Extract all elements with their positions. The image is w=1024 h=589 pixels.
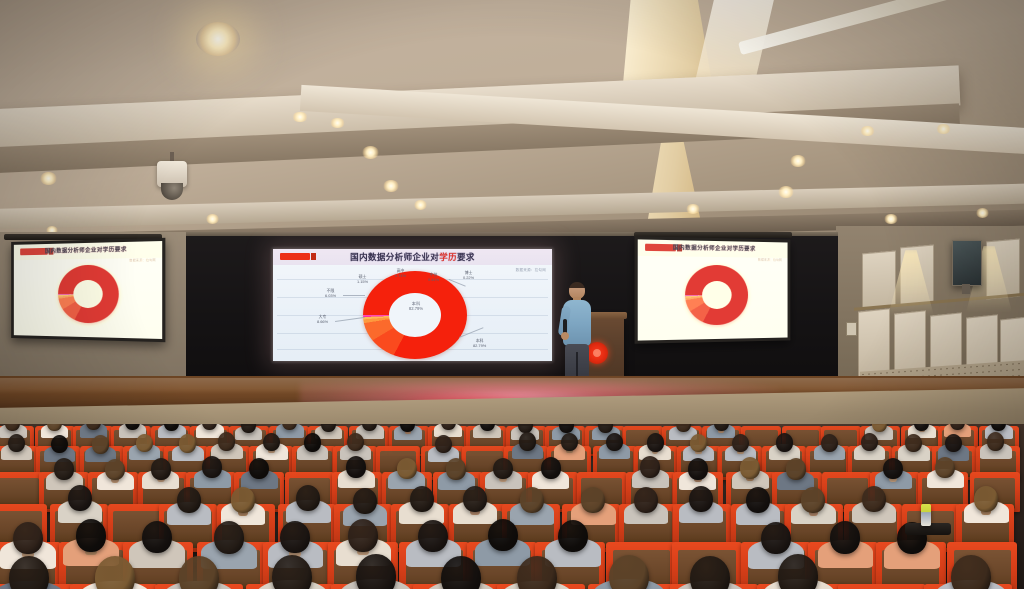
donut-label-value: 6.03% [325,294,336,299]
slide-source-left: 数据来源：拉勾网 [129,258,156,263]
audience-member-head [519,432,536,450]
audience-member-head [689,486,713,512]
audience-member-head [346,456,366,478]
ceiling-downlight [40,172,57,185]
audience-member-head [353,488,377,514]
audience-member-head [688,458,708,480]
slide-title-suffix: 要求 [457,252,475,262]
donut-leader-line [343,295,365,296]
wall-speaker-icon [952,240,982,286]
audience-member-head [92,435,109,453]
audience-member-head [761,522,791,554]
audience-member-head [136,434,153,452]
ceiling-downlight [414,200,427,210]
audience-member-head [397,458,417,480]
audience-member-head [296,485,320,511]
audience-seat [838,584,926,589]
donut-label-shuoshi: 硕士 1.15% [357,275,368,285]
audience-member-head [105,459,125,481]
audience-member-head [520,487,544,513]
audience-member-head [249,458,269,480]
audience-member-head [347,433,364,451]
audience-member-head [732,434,749,452]
audience-member-head [8,434,25,452]
donut-center-name: 本科 [412,301,420,306]
audience-member-head [493,458,513,480]
audience-seating [0,424,1024,589]
audience-member-head [9,556,49,589]
slide-title-highlight: 学历 [439,252,457,262]
right-screen-slide: 国内数据分析师企业对学历要求 数据来源：拉勾网 [638,239,788,340]
donut-label-value: 1.15% [357,280,368,285]
audience-member-head [987,432,1004,450]
audience-member-head [935,457,955,479]
audience-member-head [776,433,793,451]
ceiling-downlight [196,22,240,56]
audience-member-head [945,434,962,452]
audience-member-head [488,519,518,551]
audience-member-head [179,434,196,452]
acoustic-panel [858,308,890,377]
donut-label-benke: 本科 82.79% [473,339,486,349]
audience-member-head [559,424,574,433]
donut-label-value: 0.41% [428,278,439,283]
audience-member-head [280,521,310,553]
wall-switch-plate [846,322,857,336]
audience-member-head [348,519,378,551]
audience-member-head [13,522,43,554]
left-screen-slide: 国内数据分析师企业对学历要求 数据来源：拉勾网 [14,241,162,339]
presenter-hand [561,332,569,340]
right-screen-donut [685,265,748,326]
donut-label-boshi: 博士 0.22% [463,271,474,281]
audience-member-head [634,487,658,513]
audience-member-head [304,433,321,451]
audience-member-head [640,456,660,478]
audience-member-head [786,458,806,480]
donut-label-gaozhong: 高中 0.74% [395,269,406,279]
audience-member-head [561,433,578,451]
drink-bottle [921,504,931,526]
audience-member-head [974,486,998,512]
donut-chart [363,271,467,359]
audience-member-head [463,486,487,512]
speaker-mount [962,284,970,294]
center-screen-slide: 国内数据分析师企业对学历要求 数据来源：拉勾网 本科 82.79% 高中 0.7… [273,249,552,361]
audience-member-head [862,486,886,512]
audience-member-head [76,519,106,551]
audience-member-head [883,458,903,480]
left-projection-screen: 国内数据分析师企业对学历要求 数据来源：拉勾网 [11,238,165,342]
ceiling-downlight [206,214,219,224]
slide-title-prefix: 国内数据分析师企业对 [350,252,439,262]
audience-member-head [410,486,434,512]
audience-member-head [231,487,255,513]
ceiling-downlight [976,208,989,218]
donut-center-value: 82.79% [409,306,423,311]
ceiling-downlight [362,146,379,159]
audience-member-head [647,433,664,451]
ceiling-downlight [860,126,875,136]
ceiling-downlight [686,204,700,214]
audience-member-head [356,554,396,589]
dome-camera-icon [156,152,188,202]
slide-source-right: 数据来源：拉勾网 [758,258,782,262]
auditorium-photo: 工学院 国内数据分析师企业对学历要求 数据来源：拉勾网 国内数据分析师企业对学历… [0,0,1024,589]
audience-member-head [746,487,770,513]
audience-member-head [51,435,68,453]
ceiling-downlight [936,124,951,134]
center-led-screen: 国内数据分析师企业对学历要求 数据来源：拉勾网 本科 82.79% 高中 0.7… [273,249,552,361]
acoustic-panel [862,251,896,310]
ceiling [0,0,1024,248]
ceiling-downlight [330,118,345,128]
stage-plant [16,378,46,398]
ceiling-light-strip [738,0,1012,55]
audience-member-head [218,432,235,450]
audience-member-head [435,435,452,453]
audience-member-head [740,457,760,479]
audience-member-head [202,456,222,478]
ceiling-downlight [383,180,399,192]
audience-member-head [541,457,561,479]
ceiling-downlight [778,186,794,198]
ceiling-downlight [292,112,308,122]
ceiling-downlight [790,155,806,167]
slide-title: 国内数据分析师企业对学历要求 [273,251,552,263]
audience-member-head [272,555,312,589]
audience-member-head [606,433,623,451]
audience-member-head [690,434,707,452]
donut-label-value: 0.22% [463,276,474,281]
donut-label-value: 0.74% [395,274,406,279]
donut-center-label: 本科 82.79% [381,301,451,312]
audience-member-head [142,521,172,553]
donut-hole [389,293,441,337]
donut-hole-left [73,280,102,308]
audience-member-head [68,485,92,511]
donut-hole-right [702,281,731,309]
donut-label-zhongji: 中技 0.41% [428,273,439,283]
audience-member-head [861,433,878,451]
slide-source-note: 数据来源：拉勾网 [516,268,546,273]
audience-member-head [214,521,244,553]
audience-member-head [54,458,74,480]
stage-plant [72,382,102,402]
right-projection-screen: 国内数据分析师企业对学历要求 数据来源：拉勾网 [635,236,791,344]
audience-member-head [446,458,466,480]
audience-member-head [151,458,171,480]
audience-member-head [517,556,557,589]
audience-member-head [558,520,588,552]
left-screen-donut [58,265,119,324]
donut-leader-line [335,317,365,322]
audience-member-head [177,487,201,513]
audience-member-head [830,521,860,553]
audience-member-head [821,434,838,452]
ceiling-downlight [884,214,898,224]
audience-member-head [581,487,605,513]
audience-member-head [801,487,825,513]
donut-label-dazhuan: 大专 8.66% [317,315,328,325]
donut-label-buxian: 不限 6.03% [325,289,336,299]
audience-member-head [418,520,448,552]
donut-label-value: 8.66% [317,320,328,325]
donut-label-value: 82.79% [473,344,486,349]
